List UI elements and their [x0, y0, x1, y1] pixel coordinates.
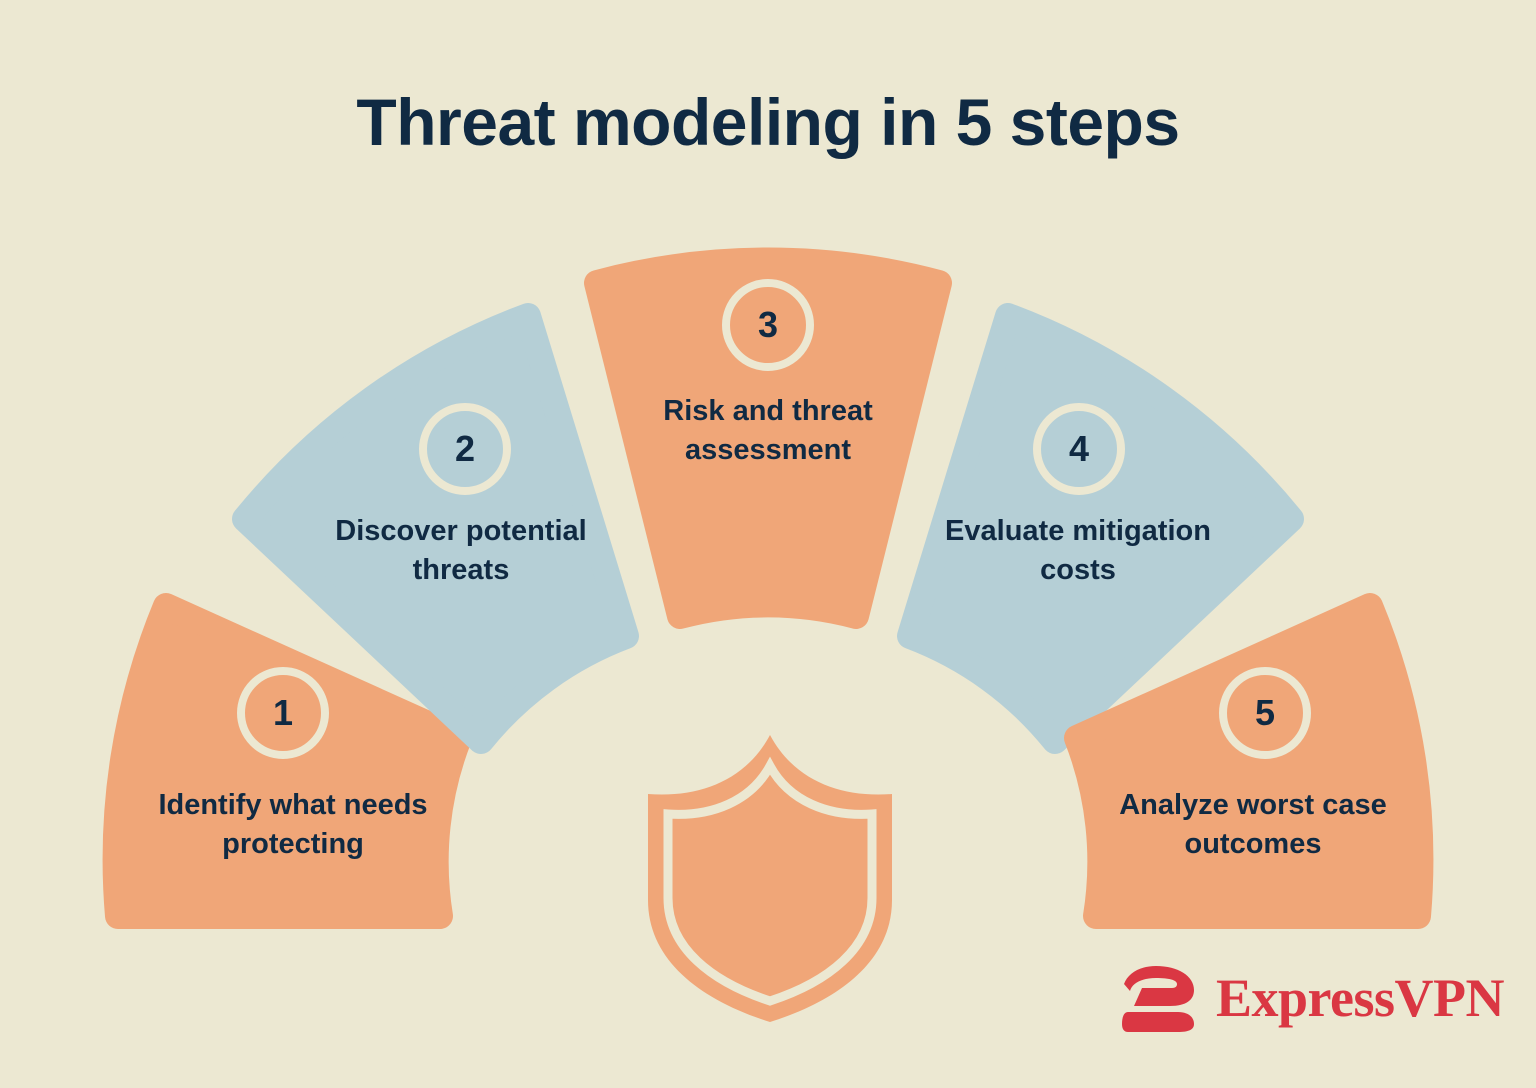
step-2-label: Discover potential threats [311, 512, 611, 590]
expressvpn-wordmark: ExpressVPN [1216, 971, 1504, 1025]
step-5-label: Analyze worst case outcomes [1103, 786, 1403, 864]
step-4-number: 4 [1031, 401, 1127, 497]
infographic-canvas: Threat modeling in 5 steps 1 2 3 4 5 Ide… [0, 0, 1536, 1088]
step-5-number: 5 [1217, 665, 1313, 761]
step-3-number: 3 [720, 277, 816, 373]
fan-diagram [0, 0, 1536, 1088]
step-1-number: 1 [235, 665, 331, 761]
expressvpn-logo[interactable]: ExpressVPN [1120, 962, 1504, 1034]
step-2-number: 2 [417, 401, 513, 497]
shield-icon [648, 735, 892, 1022]
expressvpn-e-icon [1120, 962, 1202, 1034]
step-1-label: Identify what needs protecting [143, 786, 443, 864]
step-3-label: Risk and threat assessment [618, 392, 918, 470]
step-4-label: Evaluate mitigation costs [928, 512, 1228, 590]
